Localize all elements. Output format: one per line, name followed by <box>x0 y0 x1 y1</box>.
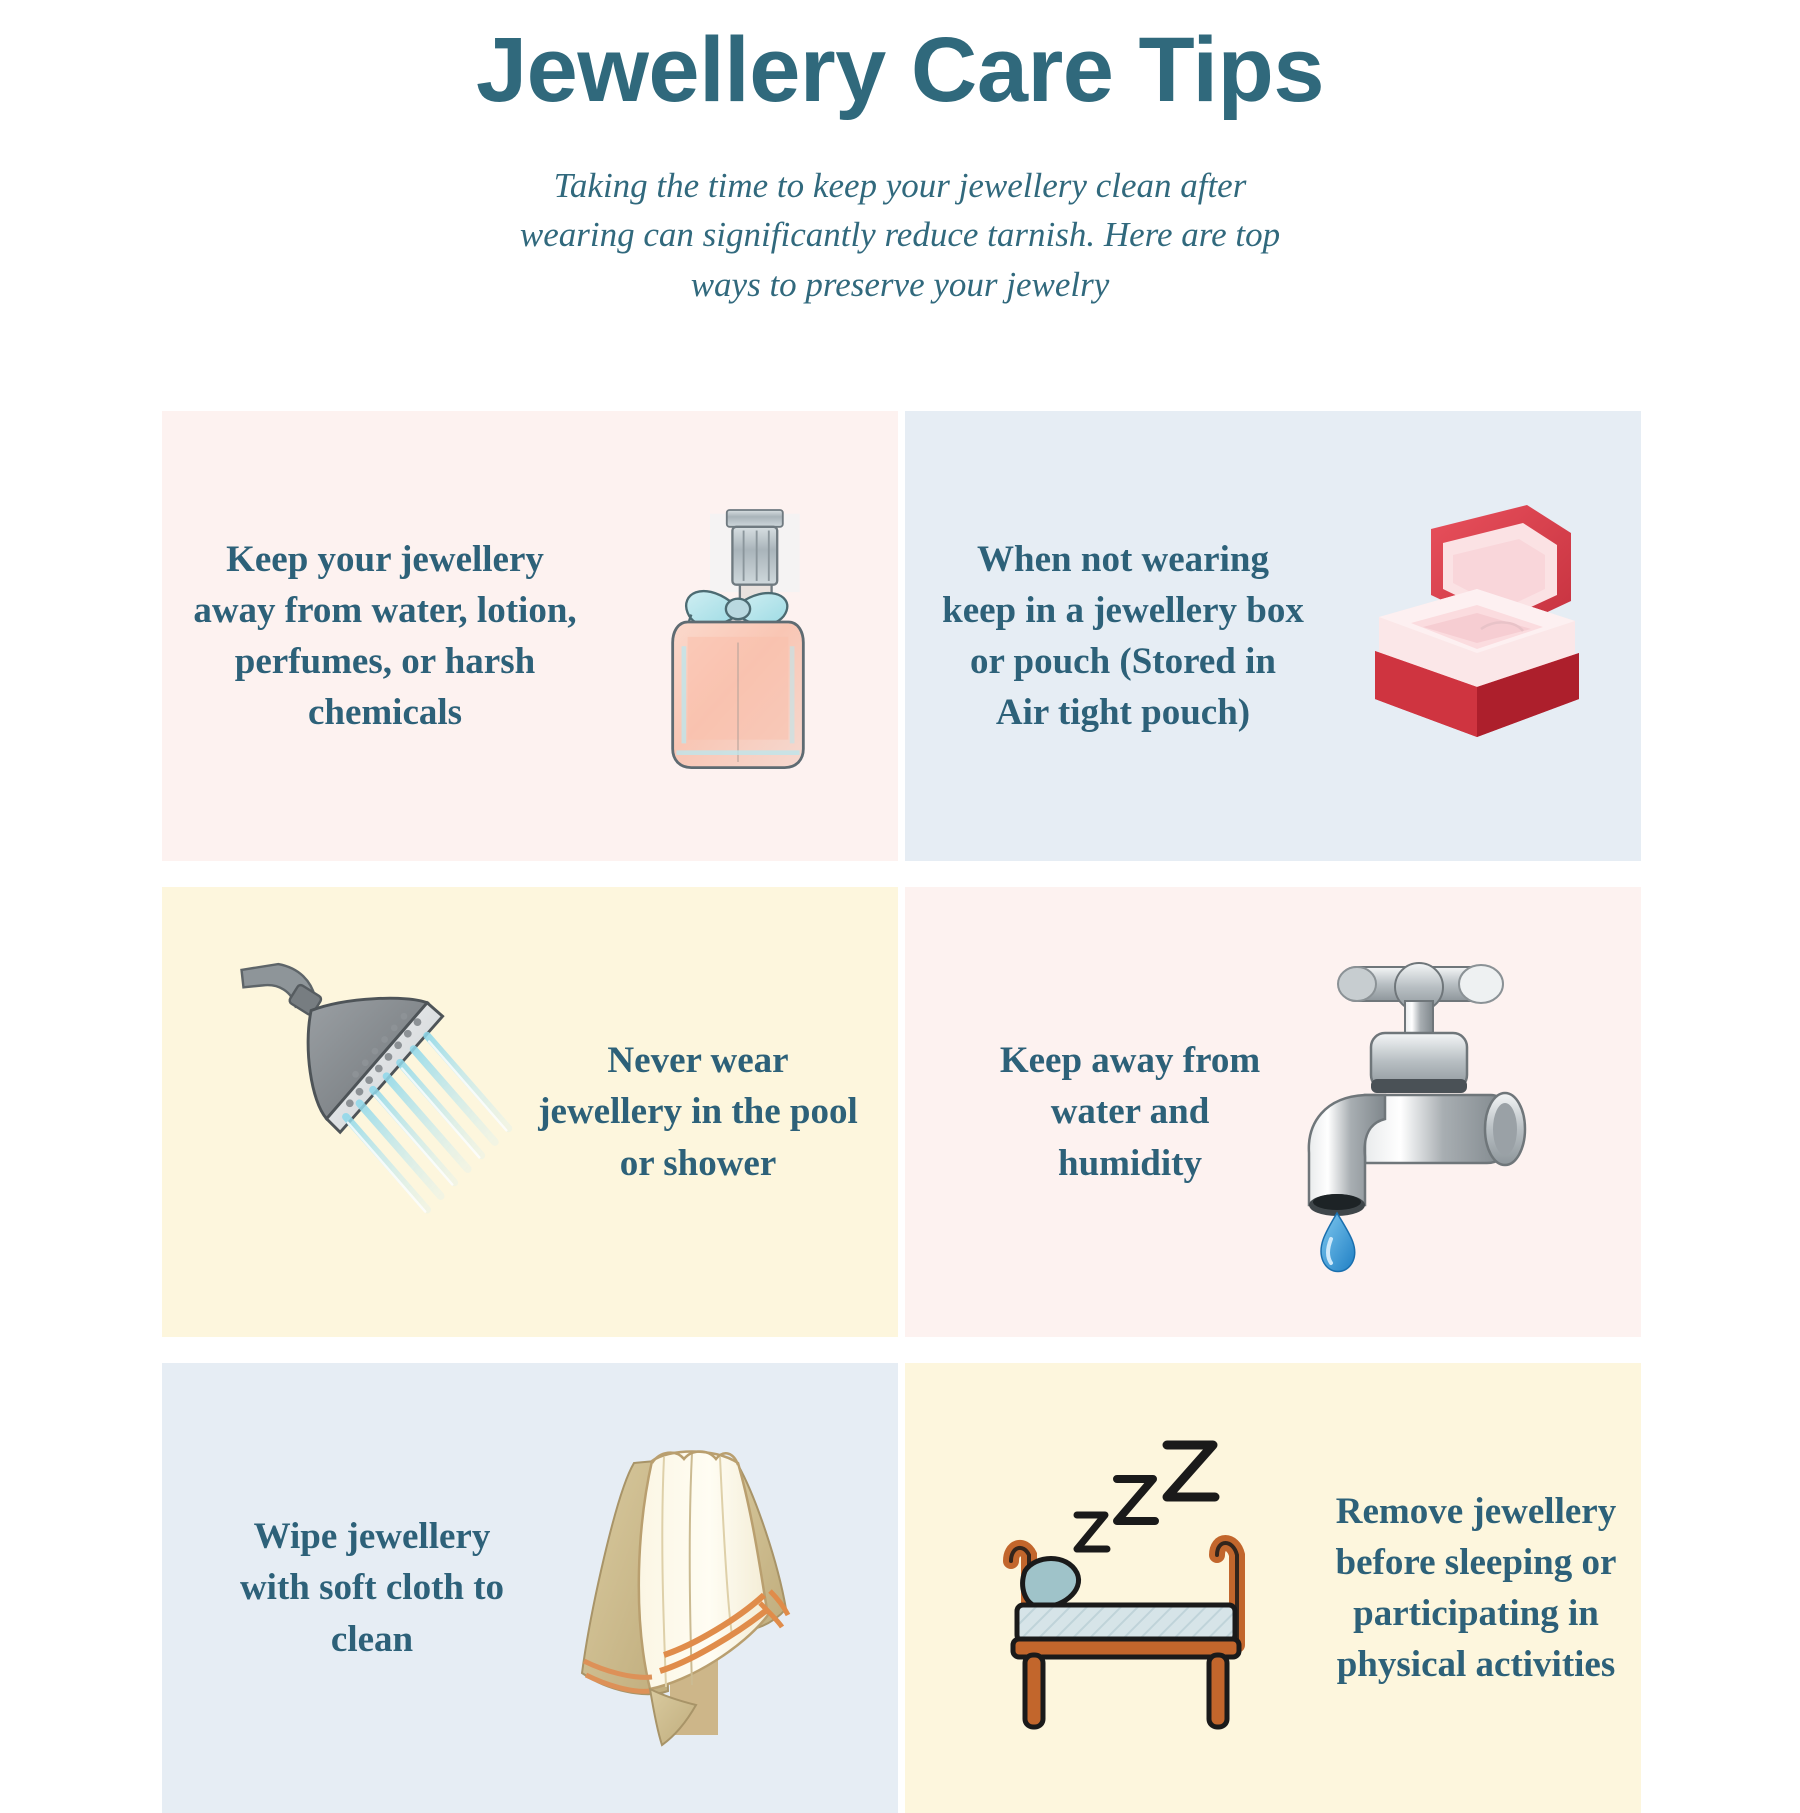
tip-card-3[interactable]: Never wear jewellery in the pool or show… <box>162 887 898 1337</box>
header: Jewellery Care Tips Taking the time to k… <box>0 0 1800 310</box>
bed-sleeping-icon <box>981 1423 1281 1753</box>
tip-card-3-text: Never wear jewellery in the pool or show… <box>518 1035 878 1188</box>
tip-card-2-text: When not wearing keep in a jewellery box… <box>927 534 1319 738</box>
perfume-bottle-icon <box>598 471 878 801</box>
shower-head-icon <box>228 947 518 1277</box>
page-title: Jewellery Care Tips <box>0 22 1800 119</box>
cloth-towel-icon <box>542 1423 842 1753</box>
tip-card-4-text: Keep away from water and humidity <box>965 1035 1295 1188</box>
faucet-icon <box>1295 947 1595 1277</box>
page-subtitle: Taking the time to keep your jewellery c… <box>510 161 1290 310</box>
tip-card-4[interactable]: Keep away from water and humidity <box>905 887 1641 1337</box>
tip-card-6-text: Remove jewellery before sleeping or part… <box>1311 1486 1641 1690</box>
tip-card-5[interactable]: Wipe jewellery with soft cloth to clean <box>162 1363 898 1813</box>
infographic-page: Jewellery Care Tips Taking the time to k… <box>0 0 1800 1800</box>
tip-card-5-text: Wipe jewellery with soft cloth to clean <box>202 1511 542 1664</box>
tip-card-1[interactable]: Keep your jewellery away from water, lot… <box>162 411 898 861</box>
tip-card-1-text: Keep your jewellery away from water, lot… <box>172 534 598 738</box>
jewellery-box-icon <box>1319 471 1619 801</box>
tip-card-6[interactable]: Remove jewellery before sleeping or part… <box>905 1363 1641 1813</box>
tip-card-2[interactable]: When not wearing keep in a jewellery box… <box>905 411 1641 861</box>
tips-grid: Keep your jewellery away from water, lot… <box>162 411 1641 1813</box>
